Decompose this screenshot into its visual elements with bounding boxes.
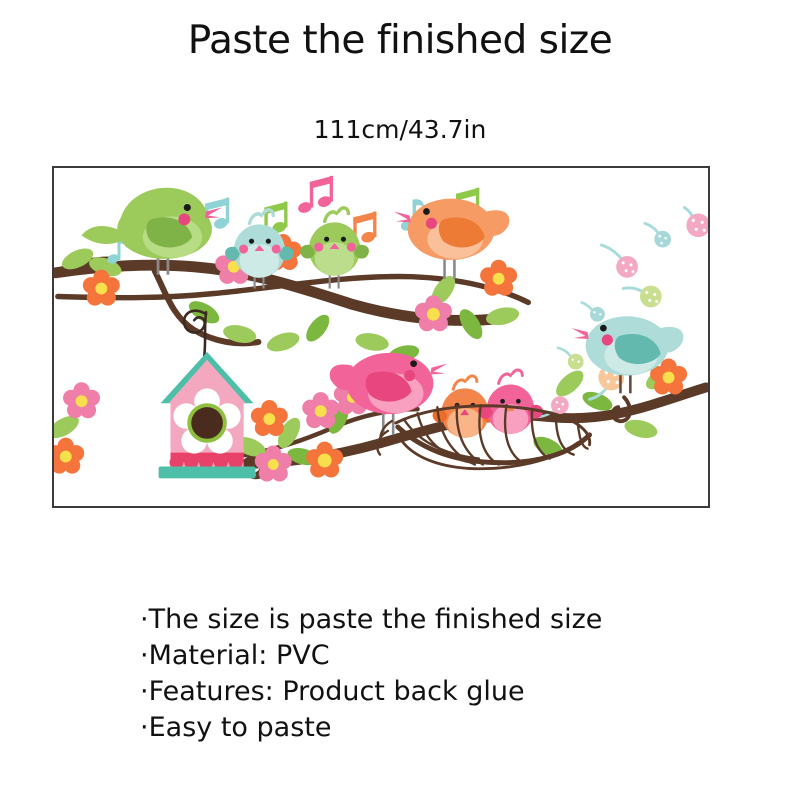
dandelion-puff xyxy=(645,223,671,247)
page-title: Paste the finished size xyxy=(0,18,800,63)
spec-list: ·The size is paste the finished size ·Ma… xyxy=(140,602,760,746)
product-spec-page: Paste the finished size 111cm/43.7in 60c… xyxy=(0,0,800,800)
artwork-panel xyxy=(52,166,710,508)
width-dimension-label: 111cm/43.7in xyxy=(0,115,800,144)
dandelion-puff xyxy=(558,348,584,370)
birds-on-branch-illustration xyxy=(54,168,708,506)
dandelion-puff xyxy=(684,208,708,238)
dandelion-puff xyxy=(601,245,638,278)
music-note-icon xyxy=(297,176,333,215)
spec-item-material: ·Material: PVC xyxy=(140,638,760,674)
spec-item-easy: ·Easy to paste xyxy=(140,710,760,746)
dandelion-puff xyxy=(582,302,605,321)
spec-item-size: ·The size is paste the finished size xyxy=(140,602,760,638)
dandelion-puff xyxy=(623,286,662,308)
spec-item-features: ·Features: Product back glue xyxy=(140,674,760,710)
